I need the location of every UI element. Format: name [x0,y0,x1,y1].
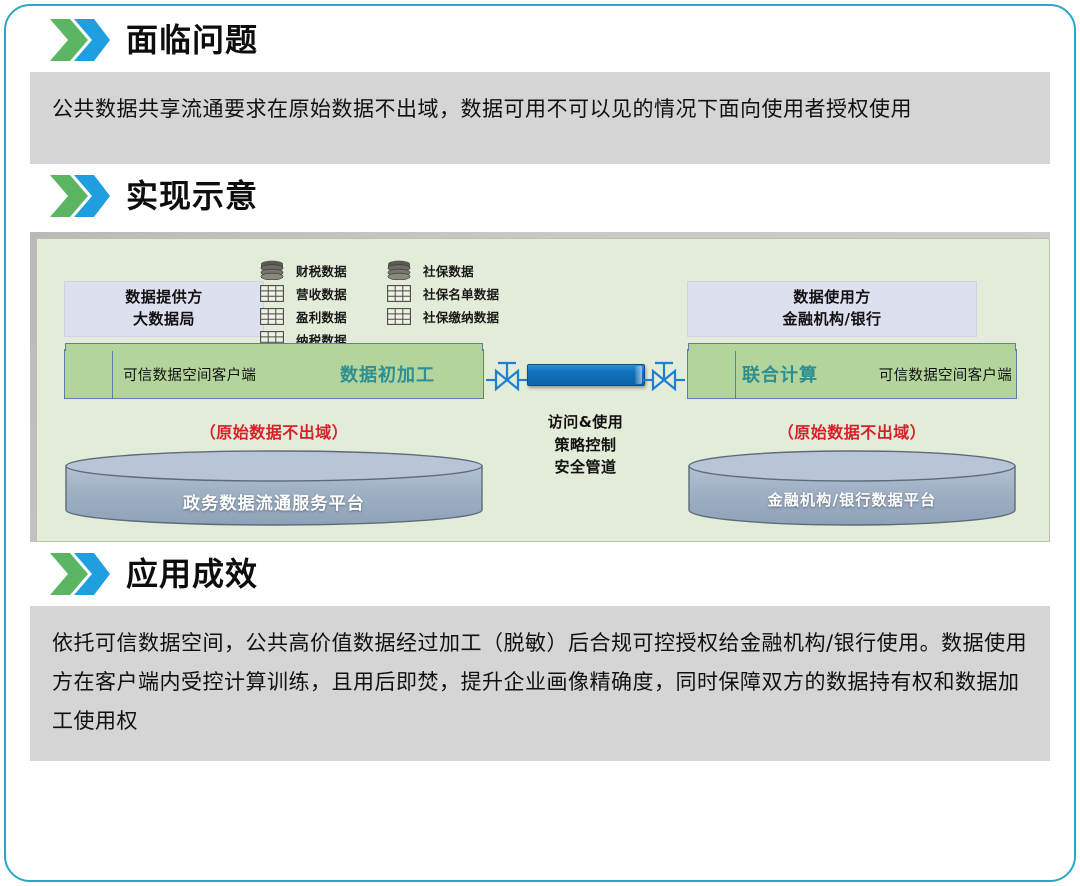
architecture-diagram-frame: 数据提供方 大数据局 数据使用方 金融机构/银行 [30,232,1050,542]
party-box-provider: 数据提供方 大数据局 [64,281,264,337]
pipe-caption: 访问&使用 策略控制 安全管道 [484,411,687,479]
legend-item: 社保缴纳数据 [382,305,499,327]
pipe-caption-line2: 策略控制 [484,434,687,457]
client-stub [65,350,113,398]
platform-label: 金融机构/银行数据平台 [687,489,1017,510]
data-icon-group-tax: 财税数据 营收数据 [255,259,347,351]
architecture-diagram: 数据提供方 大数据局 数据使用方 金融机构/银行 [36,238,1050,542]
section-title-diagram: 实现示意 [126,180,258,212]
provider-title-line1: 数据提供方 [125,287,203,309]
client-box-provider: 可信数据空间客户端 数据初加工 [64,349,484,399]
valve-icon [486,355,528,395]
legend-label: 盈利数据 [296,307,347,326]
database-icon [382,259,416,281]
valve-icon [643,355,685,395]
legend-item: 社保名单数据 [382,282,499,304]
section-title-effect: 应用成效 [126,558,258,590]
table-icon [255,282,289,304]
pipe-caption-line3: 安全管道 [484,456,687,479]
provider-note: （原始数据不出域） [64,419,484,443]
client-body: 联合计算 可信数据空间客户端 [736,350,1016,398]
platform-cylinder-bank: 金融机构/银行数据平台 [687,449,1017,527]
cylinder-shape [687,449,1017,527]
platform-label: 政务数据流通服务平台 [64,489,484,514]
consumer-title-line1: 数据使用方 [793,287,871,309]
double-chevron-icon [48,551,110,597]
legend-item: 盈利数据 [255,305,347,327]
table-icon [382,282,416,304]
legend-label: 财税数据 [296,261,347,280]
platform-cylinder-government: 政务数据流通服务平台 [64,449,484,527]
slide-page: 面临问题 公共数据共享流通要求在原始数据不出域，数据可用不可以见的情况下面向使用… [0,0,1080,886]
problem-text-panel: 公共数据共享流通要求在原始数据不出域，数据可用不可以见的情况下面向使用者授权使用 [30,72,1050,164]
provider-title-line2: 大数据局 [133,309,195,331]
secure-pipe [527,364,645,386]
effect-text-panel: 依托可信数据空间，公共高价值数据经过加工（脱敏）后合规可控授权给金融机构/银行使… [30,606,1050,761]
legend-label: 营收数据 [296,284,347,303]
section-header-problem: 面临问题 [30,8,1050,72]
provider-process-label: 数据初加工 [340,361,435,387]
cylinder-shape [64,449,484,527]
data-icon-group-social: 社保数据 社保名单数据 [382,259,499,328]
slide-content: 面临问题 公共数据共享流通要求在原始数据不出域，数据可用不可以见的情况下面向使用… [0,0,1080,886]
database-icon [255,259,289,281]
double-chevron-icon [48,17,110,63]
consumer-client-label: 可信数据空间客户端 [879,364,1012,385]
table-icon [382,305,416,327]
legend-item: 财税数据 [255,259,347,281]
legend-label: 社保名单数据 [423,284,499,303]
provider-client-label: 可信数据空间客户端 [123,364,256,385]
legend-item: 社保数据 [382,259,499,281]
secure-pipe-assembly [484,347,687,405]
client-box-consumer: 联合计算 可信数据空间客户端 [687,349,1017,399]
section-header-diagram: 实现示意 [30,164,1050,228]
table-icon [255,305,289,327]
double-chevron-icon [48,173,110,219]
legend-item: 营收数据 [255,282,347,304]
consumer-title-line2: 金融机构/银行 [783,309,882,331]
client-stub [688,350,736,398]
legend-label: 社保缴纳数据 [423,307,499,326]
party-box-consumer: 数据使用方 金融机构/银行 [687,281,977,337]
legend-label: 社保数据 [423,261,474,280]
client-body: 可信数据空间客户端 数据初加工 [113,350,483,398]
section-header-effect: 应用成效 [30,542,1050,606]
consumer-process-label: 联合计算 [742,361,818,387]
pipe-caption-line1: 访问&使用 [484,411,687,434]
consumer-note: （原始数据不出域） [687,419,1017,443]
section-title-problem: 面临问题 [126,24,258,56]
